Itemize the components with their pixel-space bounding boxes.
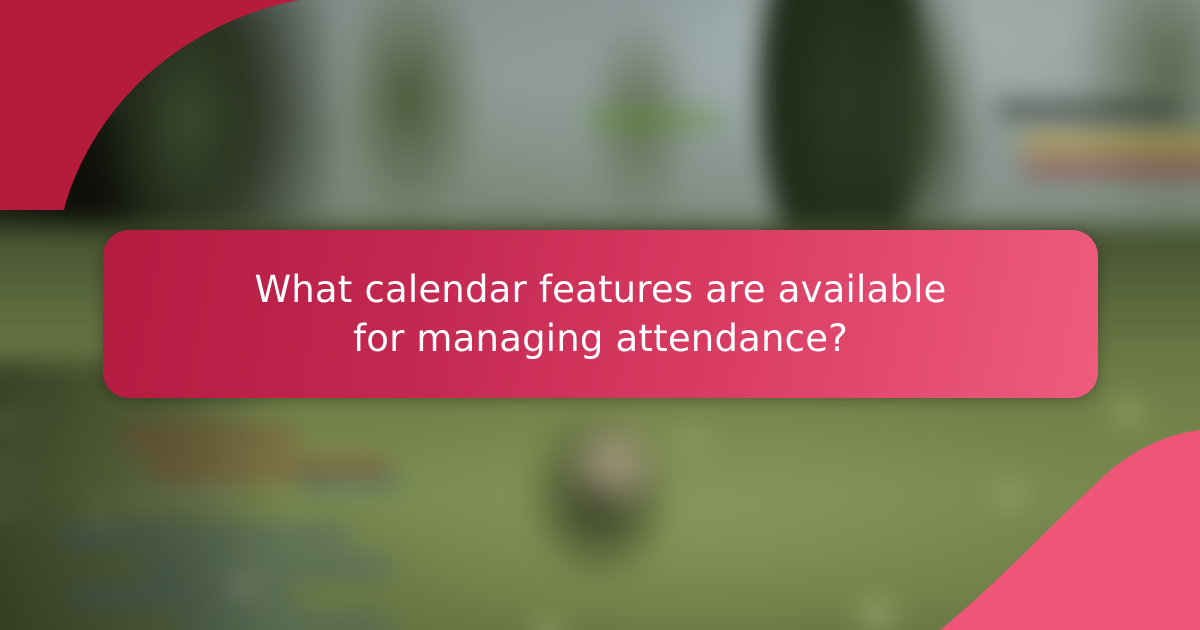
chat-log-line	[72, 593, 296, 600]
chat-log-avatar	[0, 420, 19, 427]
chat-log-line	[296, 480, 402, 487]
chat-log-line	[138, 563, 389, 570]
foreground-character	[560, 413, 666, 518]
hud-health-bar-green	[587, 116, 719, 124]
promo-card: What calendar features are available for…	[0, 0, 1200, 630]
chat-log-line	[125, 435, 297, 442]
chat-log-line	[151, 465, 389, 472]
chat-log-avatar	[0, 503, 19, 510]
hud-frame-right	[943, 0, 1200, 147]
hud-health-bar-red	[1022, 165, 1200, 172]
chat-log-line	[178, 623, 389, 630]
question-banner: What calendar features are available for…	[103, 230, 1098, 398]
hud-light-dot	[105, 98, 115, 106]
chat-log-avatar	[0, 465, 19, 472]
chat-log-line	[59, 533, 349, 540]
chat-log-line	[125, 495, 244, 502]
hud-health-bar-orange	[1022, 139, 1200, 148]
hud-bar-dark	[996, 105, 1181, 114]
question-text: What calendar features are available for…	[251, 265, 951, 363]
hud-light-dot	[59, 94, 71, 104]
